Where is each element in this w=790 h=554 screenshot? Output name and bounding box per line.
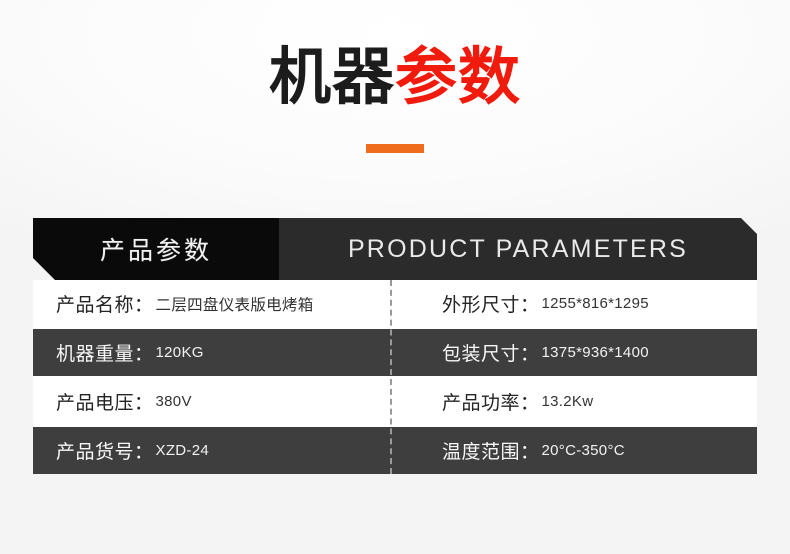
param-label: 产品功率： xyxy=(442,388,540,415)
param-label: 包装尺寸： xyxy=(442,339,540,366)
parameters-table: 产品名称： 二层四盘仪表版电烤箱 外形尺寸： 1255*816*1295 机器重… xyxy=(33,280,757,474)
page-title-text: 机器参数 xyxy=(0,46,790,108)
page-title: 机器参数 xyxy=(0,46,790,108)
card-header-en-label: PRODUCT PARAMETERS xyxy=(348,235,688,264)
param-value: XZD-24 xyxy=(156,442,209,459)
param-label: 温度范围： xyxy=(442,437,540,464)
page-title-red-part: 参数 xyxy=(395,40,521,113)
table-cell-left: 产品货号： XZD-24 xyxy=(33,427,390,474)
param-label: 外形尺寸： xyxy=(442,290,540,317)
param-value: 120KG xyxy=(156,344,204,361)
card-header-cn-label: 产品参数 xyxy=(100,231,212,267)
table-cell-left: 产品名称： 二层四盘仪表版电烤箱 xyxy=(33,280,390,327)
table-row: 产品电压： 380V 产品功率： 13.2Kw xyxy=(33,378,757,425)
table-cell-right: 包装尺寸： 1375*936*1400 xyxy=(390,329,757,376)
table-cell-left: 机器重量： 120KG xyxy=(33,329,390,376)
param-value: 二层四盘仪表版电烤箱 xyxy=(156,293,314,315)
card-header: 产品参数 PRODUCT PARAMETERS xyxy=(33,218,757,280)
param-label: 产品名称： xyxy=(56,290,154,317)
card-header-cn-panel: 产品参数 xyxy=(33,218,279,280)
param-value: 20°C-350°C xyxy=(542,442,625,459)
param-label: 机器重量： xyxy=(56,339,154,366)
product-parameters-card: 产品参数 PRODUCT PARAMETERS 产品名称： 二层四盘仪表版电烤箱… xyxy=(33,218,757,474)
card-header-en-panel: PRODUCT PARAMETERS xyxy=(279,218,757,280)
param-value: 1255*816*1295 xyxy=(542,295,649,312)
title-accent-bar xyxy=(366,144,424,153)
page-title-black-part: 机器 xyxy=(269,40,395,113)
table-row: 产品名称： 二层四盘仪表版电烤箱 外形尺寸： 1255*816*1295 xyxy=(33,280,757,327)
table-row: 产品货号： XZD-24 温度范围： 20°C-350°C xyxy=(33,427,757,474)
table-cell-right: 产品功率： 13.2Kw xyxy=(390,378,757,425)
param-label: 产品货号： xyxy=(56,437,154,464)
param-value: 380V xyxy=(156,393,192,410)
param-label: 产品电压： xyxy=(56,388,154,415)
table-row: 机器重量： 120KG 包装尺寸： 1375*936*1400 xyxy=(33,329,757,376)
param-value: 13.2Kw xyxy=(542,393,594,410)
table-cell-right: 外形尺寸： 1255*816*1295 xyxy=(390,280,757,327)
table-cell-right: 温度范围： 20°C-350°C xyxy=(390,427,757,474)
table-cell-left: 产品电压： 380V xyxy=(33,378,390,425)
param-value: 1375*936*1400 xyxy=(542,344,649,361)
